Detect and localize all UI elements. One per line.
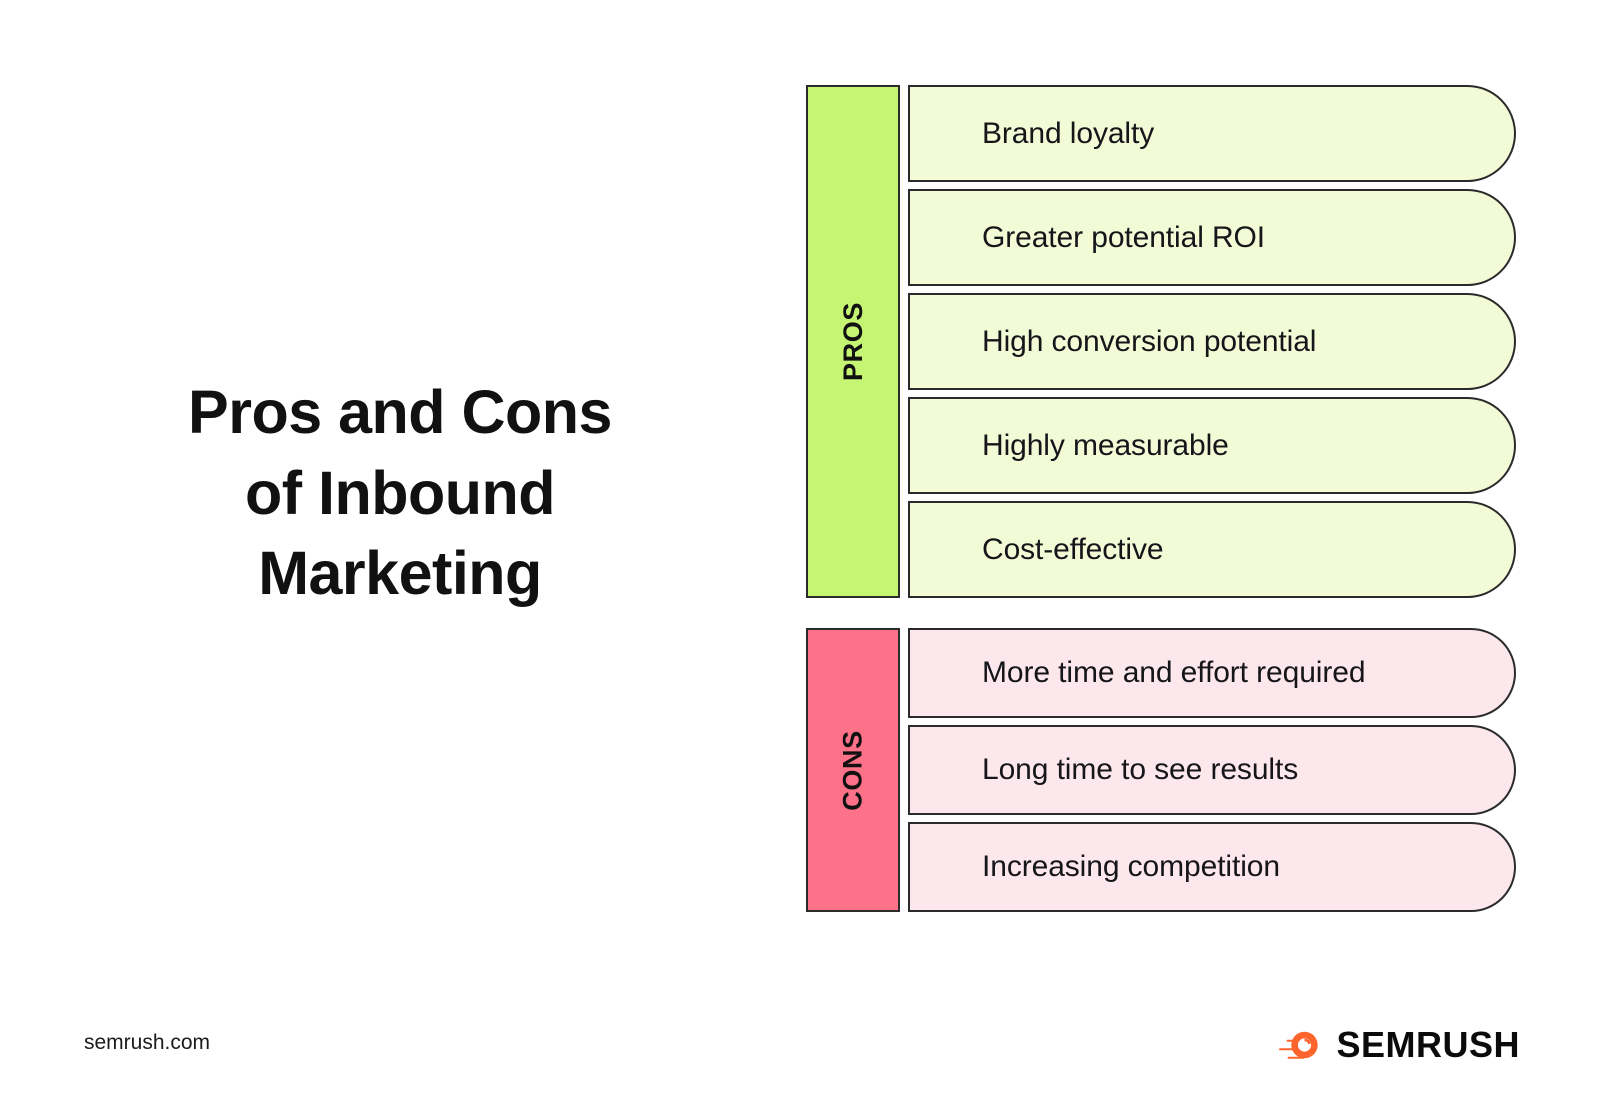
list-item: Cost-effective xyxy=(908,501,1516,598)
section-bar-cons: CONS xyxy=(806,628,900,912)
brand-wordmark: SEMRUSH xyxy=(1336,1024,1520,1066)
title-block: Pros and Cons of Inbound Marketing xyxy=(80,372,720,614)
page-title: Pros and Cons of Inbound Marketing xyxy=(80,372,720,614)
pill-stack-cons: More time and effort required Long time … xyxy=(908,628,1516,912)
list-item: Greater potential ROI xyxy=(908,189,1516,286)
list-item: Increasing competition xyxy=(908,822,1516,912)
section-label-cons: CONS xyxy=(837,730,868,810)
infographic-canvas: Pros and Cons of Inbound Marketing PROS … xyxy=(0,0,1600,1107)
section-pros: PROS Brand loyalty Greater potential ROI… xyxy=(806,85,1516,598)
list-item: Brand loyalty xyxy=(908,85,1516,182)
pros-cons-diagram: PROS Brand loyalty Greater potential ROI… xyxy=(806,85,1516,912)
section-cons: CONS More time and effort required Long … xyxy=(806,628,1516,912)
pill-stack-pros: Brand loyalty Greater potential ROI High… xyxy=(908,85,1516,598)
section-bar-pros: PROS xyxy=(806,85,900,598)
brand-logo: SEMRUSH xyxy=(1268,1024,1520,1066)
section-label-pros: PROS xyxy=(837,302,868,381)
list-item: High conversion potential xyxy=(908,293,1516,390)
list-item: More time and effort required xyxy=(908,628,1516,718)
semrush-comet-icon xyxy=(1268,1024,1322,1066)
footer-url: semrush.com xyxy=(84,1031,210,1055)
list-item: Highly measurable xyxy=(908,397,1516,494)
list-item: Long time to see results xyxy=(908,725,1516,815)
